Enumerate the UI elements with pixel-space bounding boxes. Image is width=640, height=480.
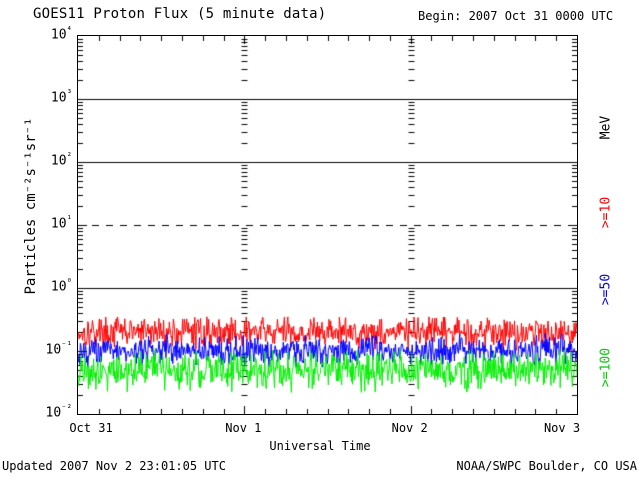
y-tick-label: 10⁰ — [12, 278, 72, 294]
x-axis-title: Universal Time — [0, 439, 640, 453]
y-axis-tick-labels: 10⁴10³10²10¹10⁰10⁻¹10⁻² — [8, 0, 72, 480]
footer-source-text: NOAA/SWPC Boulder, CO USA — [456, 459, 637, 473]
x-tick-label: Oct 31 — [69, 421, 112, 435]
begin-time-label: Begin: 2007 Oct 31 0000 UTC — [418, 9, 613, 23]
x-axis-tick-labels: Oct 31Nov 1Nov 2Nov 3 — [0, 421, 640, 439]
y-tick-label: 10¹ — [12, 215, 72, 231]
legend: MeV>=10>=50>=100 — [586, 0, 626, 480]
chart-page: GOES11 Proton Flux (5 minute data) Begin… — [0, 0, 640, 480]
page-title: GOES11 Proton Flux (5 minute data) — [33, 6, 326, 22]
y-tick-label: 10⁴ — [12, 26, 72, 42]
flux-plot-canvas — [78, 36, 577, 414]
footer-updated-text: Updated 2007 Nov 2 23:01:05 UTC — [2, 459, 226, 473]
x-tick-label: Nov 3 — [544, 421, 580, 435]
y-tick-label: 10² — [12, 152, 72, 168]
x-tick-label: Nov 2 — [392, 421, 428, 435]
legend-entry: >=100 — [599, 308, 614, 428]
y-tick-label: 10⁻² — [12, 404, 72, 420]
y-tick-label: 10⁻¹ — [12, 341, 72, 357]
x-tick-label: Nov 1 — [225, 421, 261, 435]
y-axis-title: Particles cm⁻²s⁻¹sr⁻¹ — [23, 91, 39, 321]
y-tick-label: 10³ — [12, 89, 72, 105]
